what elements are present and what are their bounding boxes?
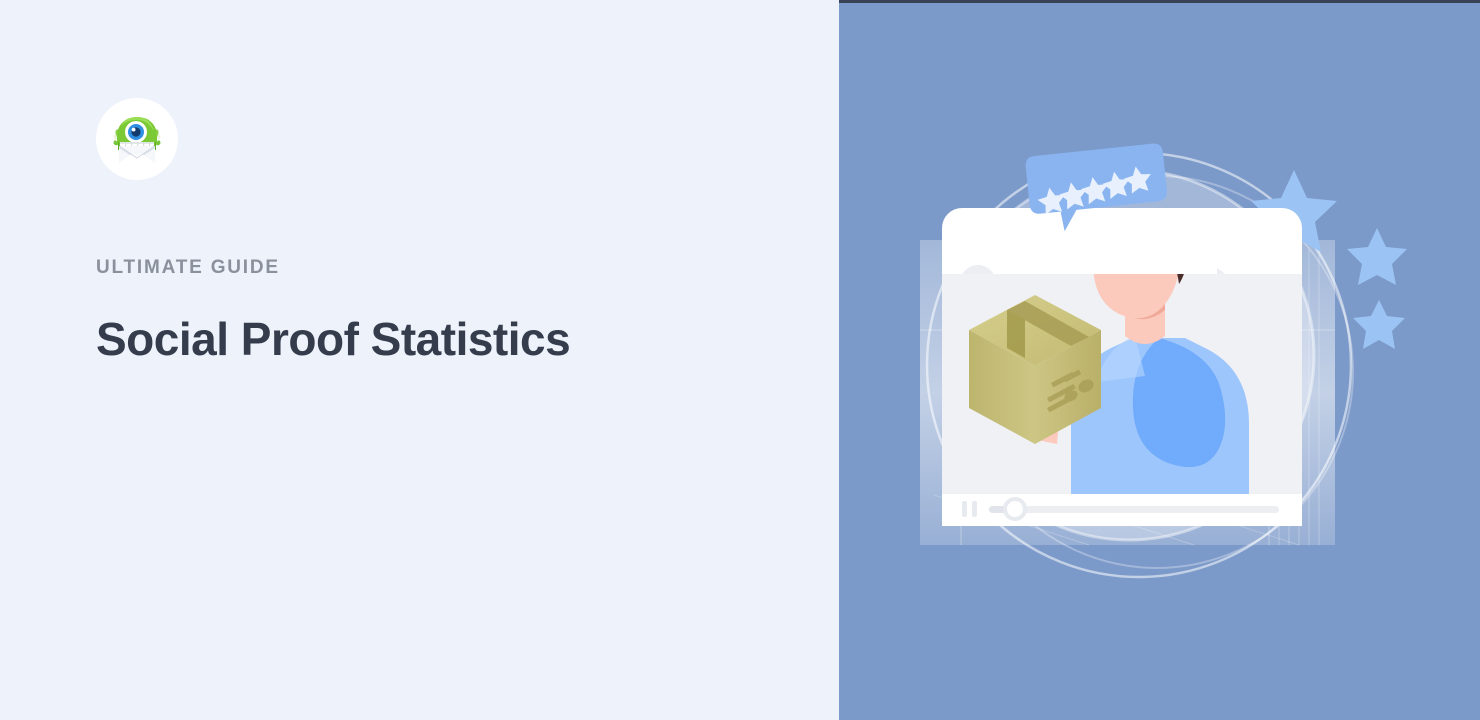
progress-track	[989, 506, 1279, 513]
page-title: Social Proof Statistics	[96, 314, 570, 366]
left-content-panel: ULTIMATE GUIDE Social Proof Statistics	[0, 0, 839, 720]
social-proof-video-review-illustration	[839, 0, 1480, 720]
optinmonster-monster-envelope-logo-icon	[106, 108, 168, 170]
video-controls	[942, 494, 1302, 526]
brand-logo-badge[interactable]	[96, 98, 178, 180]
eyebrow-label: ULTIMATE GUIDE	[96, 258, 280, 277]
illustration-panel	[839, 0, 1480, 720]
post-card	[942, 189, 1302, 526]
guide-cover-page: ULTIMATE GUIDE Social Proof Statistics	[0, 0, 1480, 720]
